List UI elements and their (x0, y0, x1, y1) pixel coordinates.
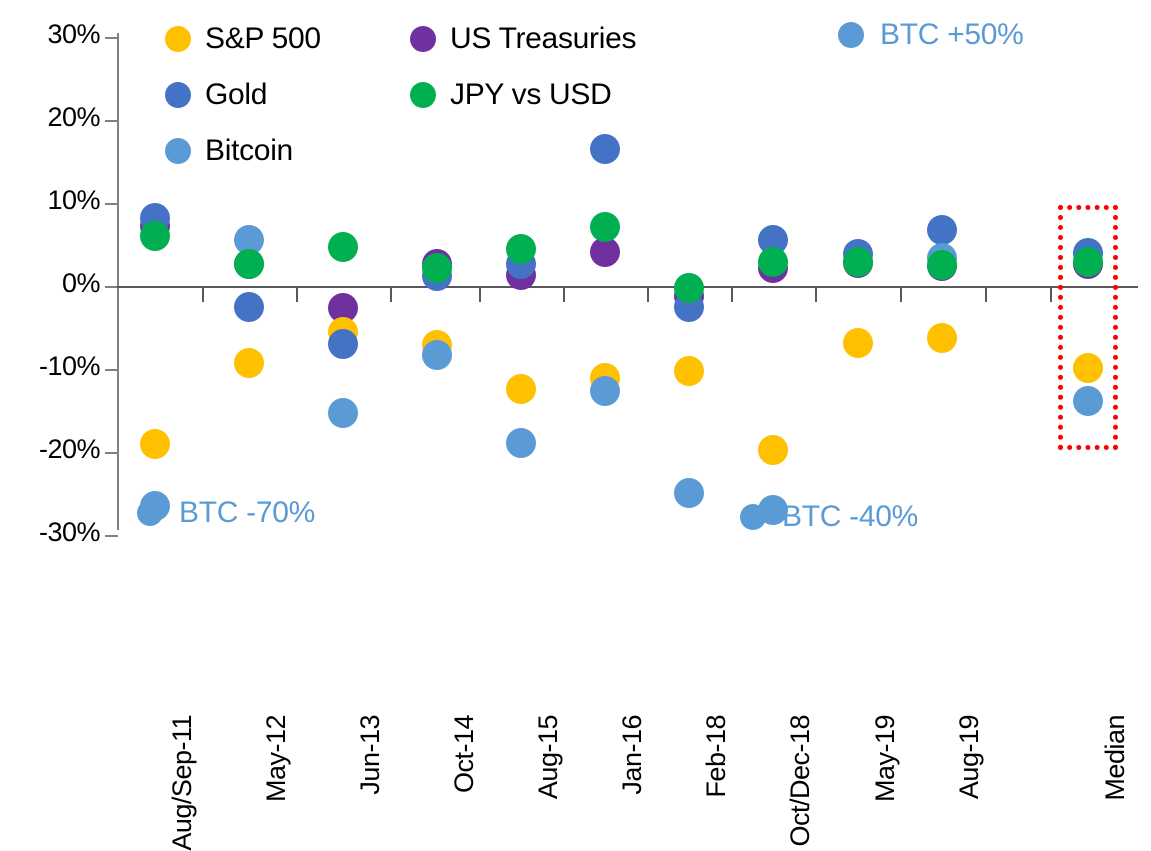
legend-label-sp500: S&P 500 (205, 22, 321, 56)
legend-label-us-treasuries: US Treasuries (450, 22, 636, 56)
data-point (234, 292, 264, 322)
legend-label-gold: Gold (205, 78, 267, 112)
x-axis-label: Jun-13 (355, 715, 386, 795)
data-point (140, 221, 170, 251)
bitcoin-color-swatch-icon (165, 138, 191, 164)
annotation-btc-plus-50: BTC +50% (838, 18, 1024, 52)
gold-color-swatch-icon (165, 82, 191, 108)
legend-item-us-treasuries[interactable]: US Treasuries (410, 22, 636, 56)
x-axis-label: Aug/Sep-11 (167, 715, 198, 851)
data-point (422, 340, 452, 370)
data-point (927, 215, 957, 245)
x-axis-label: Aug-15 (533, 715, 564, 799)
data-point (234, 249, 264, 279)
bitcoin-dot-icon (137, 500, 163, 526)
legend-label-jpy-vs-usd: JPY vs USD (450, 78, 612, 112)
annotation-btc-minus-40: BTC -40% (740, 500, 918, 534)
sp500-color-swatch-icon (165, 26, 191, 52)
legend-item-bitcoin[interactable]: Bitcoin (165, 134, 293, 168)
data-point (758, 435, 788, 465)
annotation-label-btc-minus-40: BTC -40% (782, 500, 918, 534)
data-point (234, 348, 264, 378)
legend-label-bitcoin: Bitcoin (205, 134, 293, 168)
annotation-label-btc-plus-50: BTC +50% (880, 18, 1024, 52)
median-highlight-box (1058, 205, 1118, 450)
data-point (140, 429, 170, 459)
x-axis-label: Jan-16 (617, 715, 648, 795)
x-axis-label: Median (1100, 715, 1131, 801)
x-axis-label: Oct/Dec-18 (785, 715, 816, 847)
data-point (927, 323, 957, 353)
jpy-color-swatch-icon (410, 82, 436, 108)
annotation-btc-minus-70: BTC -70% (137, 496, 315, 530)
data-point (328, 232, 358, 262)
x-axis-label: Feb-18 (701, 715, 732, 798)
data-point (506, 374, 536, 404)
bitcoin-dot-icon (740, 504, 766, 530)
legend-item-sp500[interactable]: S&P 500 (165, 22, 321, 56)
legend-item-gold[interactable]: Gold (165, 78, 267, 112)
data-point (674, 356, 704, 386)
data-point (758, 247, 788, 277)
annotation-label-btc-minus-70: BTC -70% (179, 496, 315, 530)
data-point (328, 398, 358, 428)
scatter-chart: 30%20%10%0%-10%-20%-30% S&P 500 Gold Bit… (0, 0, 1151, 739)
data-point (422, 253, 452, 283)
data-point (328, 329, 358, 359)
data-point (843, 328, 873, 358)
data-point (674, 478, 704, 508)
treasuries-color-swatch-icon (410, 26, 436, 52)
x-axis-label: May-19 (870, 715, 901, 802)
legend-item-jpy-vs-usd[interactable]: JPY vs USD (410, 78, 612, 112)
x-axis-label: Aug-19 (954, 715, 985, 799)
bitcoin-dot-icon (838, 22, 864, 48)
data-point (590, 212, 620, 242)
data-point (590, 376, 620, 406)
x-axis-label: May-12 (261, 715, 292, 802)
x-axis-label: Oct-14 (449, 715, 480, 793)
data-point (506, 428, 536, 458)
data-point (843, 247, 873, 277)
